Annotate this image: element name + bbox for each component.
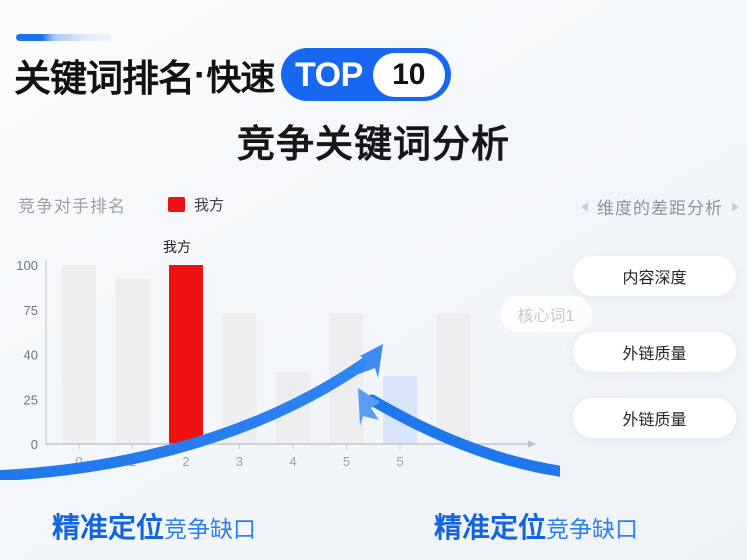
legend-swatch-icon: [168, 197, 185, 212]
dimension-pill-backlink-quality-1[interactable]: 外链质量: [573, 332, 736, 372]
y-axis-tick-label: 25: [24, 392, 38, 407]
kicker-sub-text: 快速: [206, 50, 274, 101]
bottom-caption-light: 竞争缺口: [164, 510, 256, 544]
bottom-caption-light: 竞争缺口: [546, 510, 638, 544]
x-axis-tick-label: 5: [343, 454, 350, 469]
ghost-keyword-pill[interactable]: 核心词1: [500, 296, 592, 332]
y-axis-tick-label: 75: [24, 303, 38, 318]
chart-legend: 竞争对手排名 我方: [18, 192, 224, 217]
x-axis-tick-label: 5: [396, 454, 403, 469]
dimension-pill-content-depth[interactable]: 内容深度: [573, 256, 736, 296]
bottom-caption-strong: 精准定位: [434, 506, 546, 546]
x-axis-tick-label: 4: [289, 454, 296, 469]
triangle-left-icon[interactable]: [581, 202, 588, 212]
kicker-line: 关键词排名 · 快速: [14, 47, 274, 103]
top-badge-label: TOP: [295, 58, 363, 92]
dimension-analysis-header: 维度的差距分析: [581, 194, 739, 219]
triangle-right-icon[interactable]: [732, 202, 739, 212]
slide-canvas: 关键词排名 · 快速 TOP 10 竞争关键词分析 竞争对手排名 我方 维度的差…: [0, 0, 747, 560]
competitor-rank-bar-chart: 我方 1007540250 0123455: [0, 240, 560, 480]
top-rank-badge: TOP 10: [281, 48, 451, 101]
y-axis-tick-label: 100: [16, 258, 38, 273]
kicker-main-text: 关键词排名: [14, 48, 194, 102]
bottom-caption-strong: 精准定位: [52, 506, 164, 546]
y-axis-ticks: 1007540250: [16, 258, 38, 452]
dimension-pill-label: 外链质量: [622, 340, 686, 364]
kicker-separator-dot: ·: [194, 54, 206, 96]
ghost-keyword-label: 核心词1: [518, 302, 575, 326]
bottom-caption-left: 精准定位 竞争缺口: [52, 506, 256, 546]
page-title: 竞争关键词分析: [0, 113, 747, 168]
chart-axis-title: 竞争对手排名: [18, 192, 126, 217]
bar: [437, 313, 471, 444]
dimension-analysis-label: 维度的差距分析: [597, 194, 723, 219]
legend-item-label: 我方: [194, 194, 224, 215]
y-axis-tick-label: 0: [31, 437, 38, 452]
top-badge-number: 10: [392, 60, 425, 90]
y-axis-tick-label: 40: [24, 348, 38, 363]
bar: [62, 265, 96, 444]
accent-bar: [16, 34, 112, 41]
top-badge-circle: 10: [373, 53, 445, 97]
legend-item-mine: 我方: [168, 194, 224, 215]
bar-highlight: [169, 265, 203, 444]
bar: [116, 279, 150, 444]
dimension-pill-label: 内容深度: [622, 264, 686, 288]
x-axis-tick-label: 3: [236, 454, 243, 469]
dimension-pill-backlink-quality-2[interactable]: 外链质量: [573, 398, 736, 438]
dimension-pill-label: 外链质量: [622, 406, 686, 430]
chart-svg: 1007540250 0123455: [0, 240, 560, 480]
bottom-caption-right: 精准定位 竞争缺口: [434, 506, 638, 546]
x-axis-tick-label: 2: [182, 454, 189, 469]
